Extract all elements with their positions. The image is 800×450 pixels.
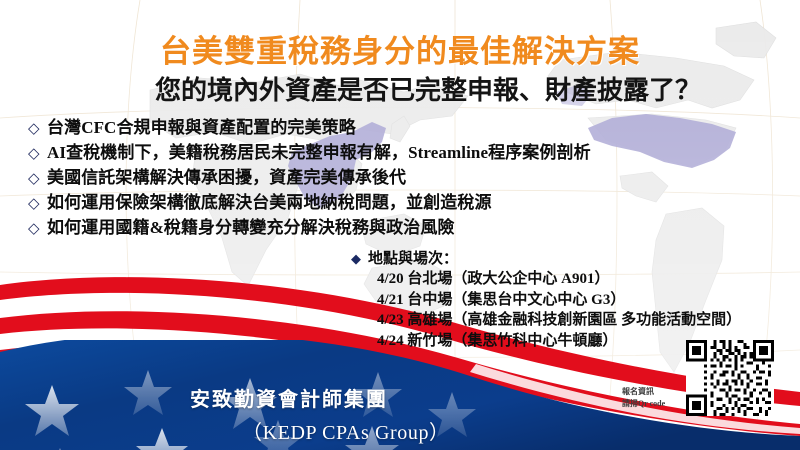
schedule-session: 4/23 高雄場（高雄金融科技創新園區 多功能活動空間）	[377, 310, 741, 331]
company-name-chinese: 安致勤資會計師集團	[190, 383, 450, 412]
diamond-outline-icon: ◇	[28, 147, 47, 162]
poster-subtitle: 您的境內外資產是否已完整申報、財產披露了？	[0, 70, 796, 107]
qr-caption-line-2: 請掃Qr code	[622, 398, 665, 410]
qr-code[interactable]	[686, 340, 774, 416]
list-item: ◇ 美國信託架構解決傳承困擾，資產完美傳承後代	[28, 163, 591, 185]
company-name-english: （KEDP CPAs Group）	[242, 416, 450, 445]
topic-bullet-list: ◇ 台灣CFC合規申報與資產配置的完美策略 ◇ AI查稅機制下，美籍稅務居民未完…	[28, 113, 591, 238]
diamond-outline-icon: ◇	[28, 122, 47, 137]
schedule-session: 4/20 台北場（政大公企中心 A901）	[377, 269, 741, 290]
bullet-text: 台灣CFC合規申報與資產配置的完美策略	[47, 113, 356, 138]
company-branding: 安致勤資會計師集團 （KEDP CPAs Group）	[190, 383, 450, 445]
qr-caption: 報名資訊 請掃Qr code	[622, 386, 665, 409]
bullet-text: 美國信託架構解決傳承困擾，資產完美傳承後代	[47, 163, 406, 188]
bullet-text: AI查稅機制下，美籍稅務居民未完整申報有解，Streamline程序案例剖析	[47, 138, 591, 163]
schedule-block: ◆ 地點與場次： 4/20 台北場（政大公企中心 A901） 4/21 台中場（…	[351, 247, 741, 352]
schedule-heading-row: ◆ 地點與場次：	[351, 247, 741, 268]
list-item: ◇ AI查稅機制下，美籍稅務居民未完整申報有解，Streamline程序案例剖析	[28, 138, 591, 160]
diamond-outline-icon: ◇	[28, 222, 47, 237]
poster-canvas: 台美雙重稅務身分的最佳解決方案 您的境內外資產是否已完整申報、財產披露了？ ◇ …	[0, 0, 800, 450]
diamond-outline-icon: ◇	[28, 172, 47, 187]
schedule-session: 4/21 台中場（集思台中文心中心 G3）	[377, 290, 741, 311]
list-item: ◇ 如何運用保險架構徹底解決台美兩地納稅問題，並創造稅源	[28, 188, 591, 210]
qr-caption-line-1: 報名資訊	[622, 386, 665, 398]
list-item: ◇ 如何運用國籍&稅籍身分轉變充分解決稅務與政治風險	[28, 213, 591, 235]
poster-main-title: 台美雙重稅務身分的最佳解決方案	[0, 26, 800, 71]
schedule-heading: 地點與場次：	[368, 247, 458, 268]
bullet-text: 如何運用保險架構徹底解決台美兩地納稅問題，並創造稅源	[47, 188, 492, 213]
bullet-text: 如何運用國籍&稅籍身分轉變充分解決稅務與政治風險	[47, 213, 455, 238]
diamond-filled-icon: ◆	[351, 251, 368, 267]
list-item: ◇ 台灣CFC合規申報與資產配置的完美策略	[28, 113, 591, 135]
diamond-outline-icon: ◇	[28, 197, 47, 212]
